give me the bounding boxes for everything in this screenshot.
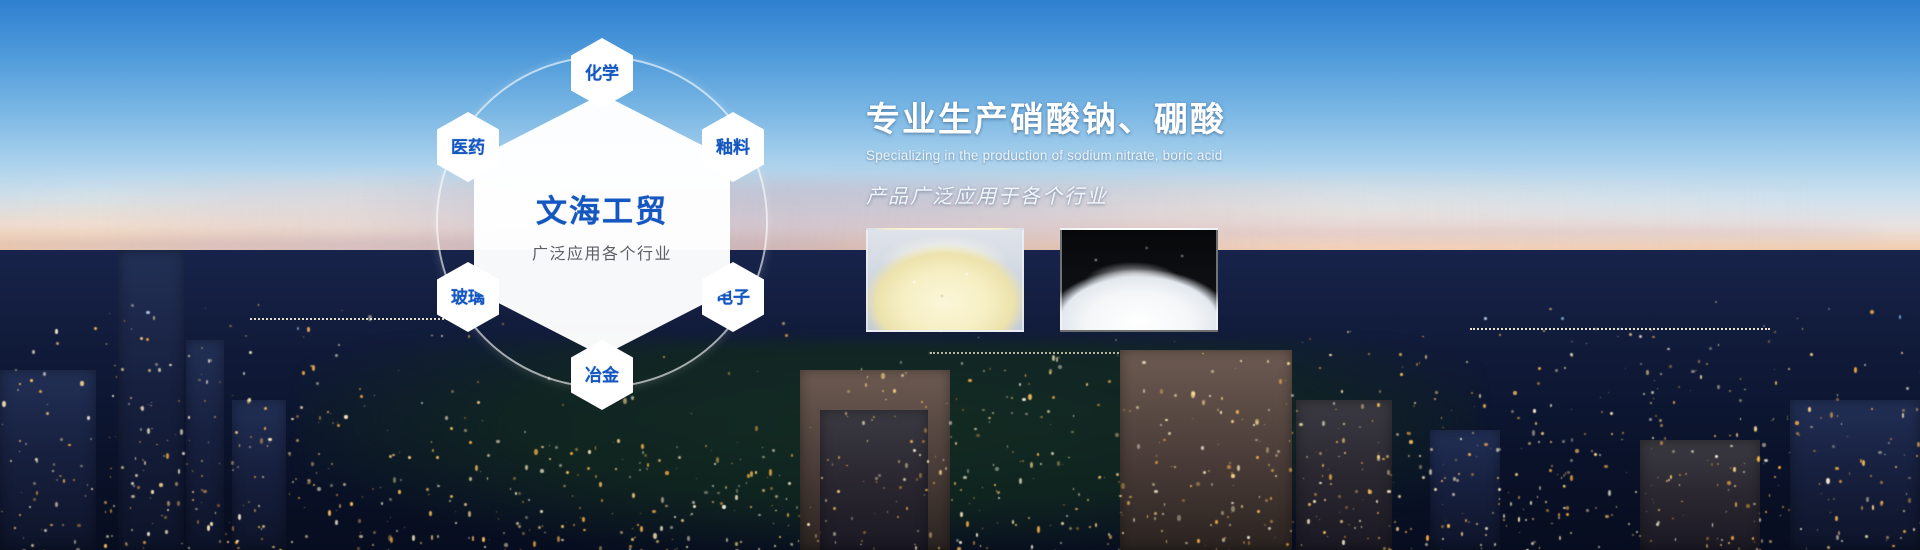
headline-block: 专业生产硝酸钠、硼酸 Specializing in the productio…	[866, 102, 1386, 209]
product-photo-sodium-nitrate[interactable]	[866, 228, 1024, 332]
building-silhouette	[232, 400, 286, 550]
building-silhouette	[1640, 440, 1760, 550]
brand-name: 文海工贸	[536, 186, 668, 231]
building-silhouette	[1430, 430, 1500, 550]
bridge-lights	[930, 352, 1150, 354]
hex-node-label: 冶金	[585, 367, 619, 384]
headline-english: Specializing in the production of sodium…	[866, 148, 1386, 163]
product-photo-strip	[866, 228, 1218, 332]
building-silhouette	[1790, 400, 1920, 550]
building-silhouette	[1296, 400, 1392, 550]
brand-slogan: 广泛应用各个行业	[532, 240, 672, 264]
building-silhouette	[0, 370, 96, 550]
building-silhouette	[1120, 350, 1292, 550]
bridge-lights	[1470, 328, 1770, 330]
headline-chinese: 专业生产硝酸钠、硼酸	[866, 102, 1386, 139]
industry-hex-diagram: 化学 釉料 电子 冶金 玻璃 医药 文海工贸 广泛应用各个行业	[392, 12, 812, 432]
tagline-chinese: 产品广泛应用于各个行业	[866, 180, 1386, 209]
hex-node-label: 医药	[451, 139, 485, 156]
product-photo-boric-acid[interactable]	[1060, 228, 1218, 332]
promo-banner: 化学 釉料 电子 冶金 玻璃 医药 文海工贸 广泛应用各个行业 专业生产硝酸钠、…	[0, 0, 1920, 550]
building-silhouette	[820, 410, 928, 550]
building-silhouette	[186, 340, 224, 550]
hex-node-label: 釉料	[716, 139, 750, 156]
hex-node-label: 化学	[585, 65, 619, 82]
building-silhouette	[118, 250, 184, 550]
